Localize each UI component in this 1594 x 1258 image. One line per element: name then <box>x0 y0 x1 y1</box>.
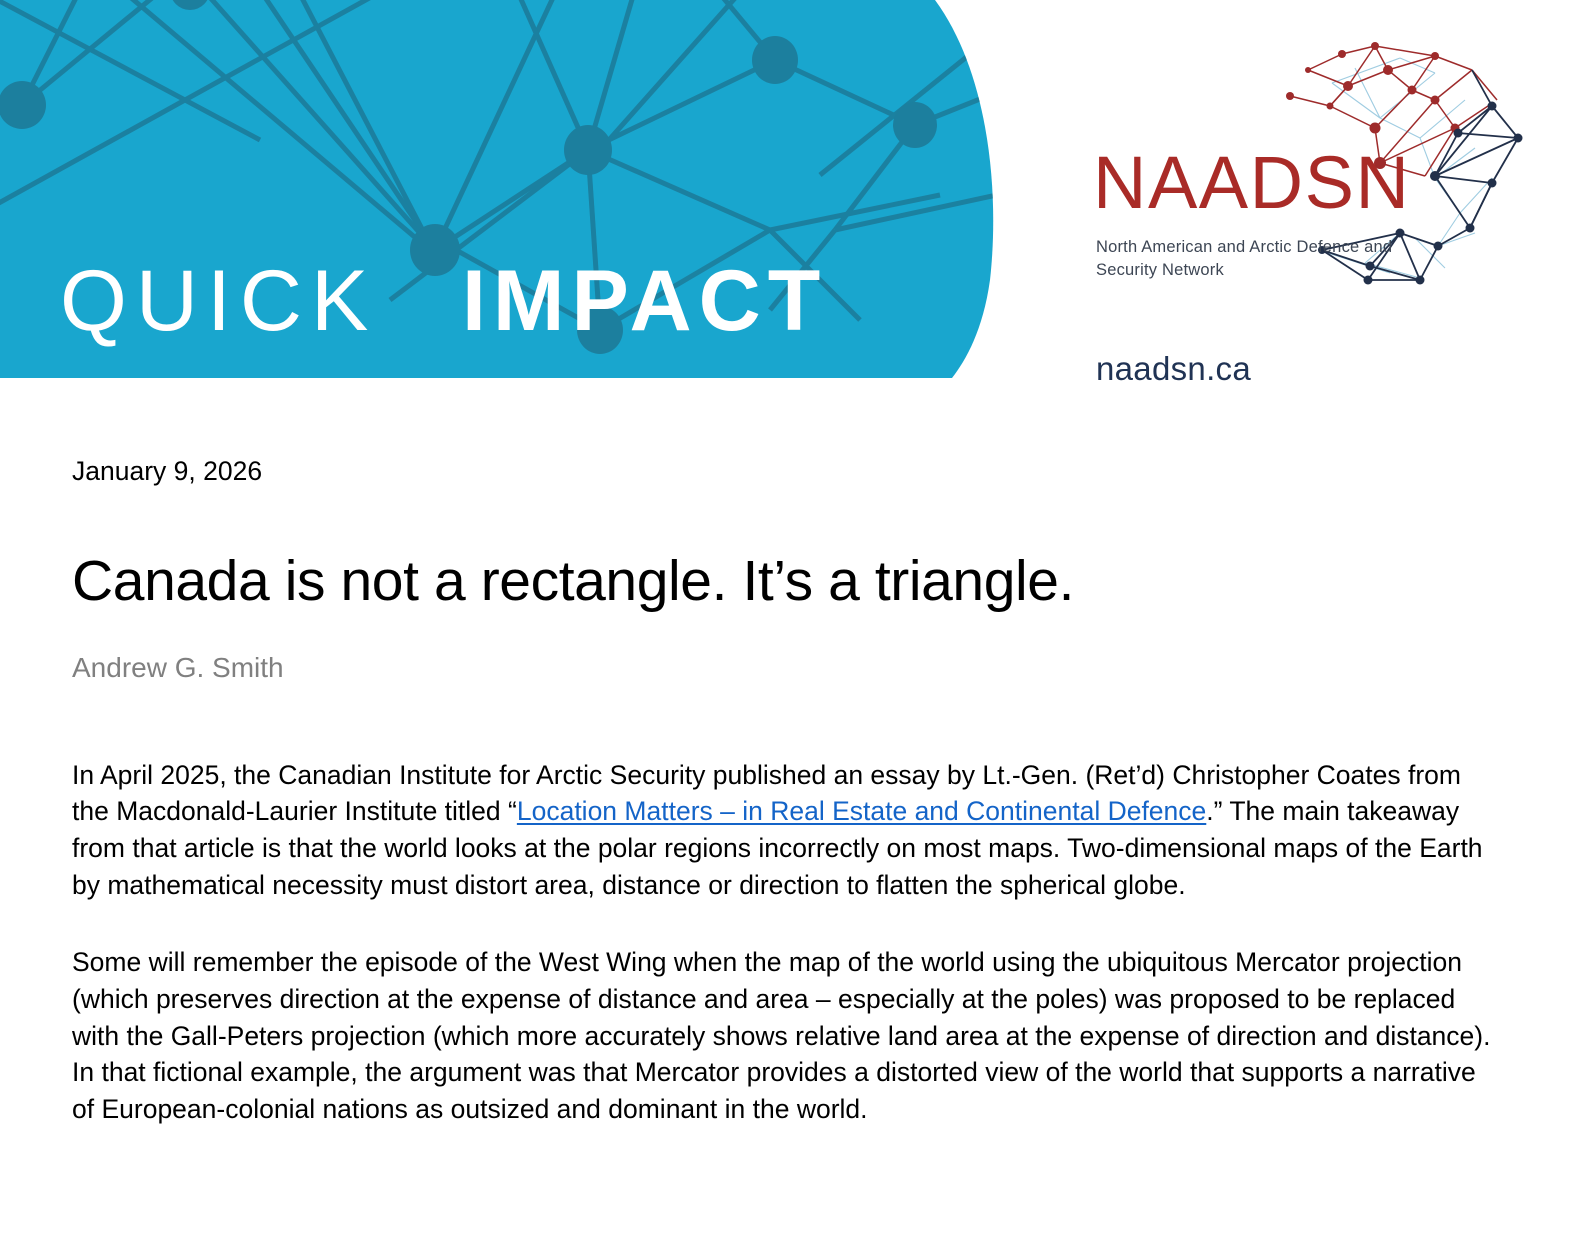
banner-title-impact: IMPACT <box>462 253 827 349</box>
banner-title-quick: QUICK <box>60 253 377 349</box>
body-paragraph-1: In April 2025, the Canadian Institute fo… <box>72 757 1504 904</box>
naadsn-tagline: North American and Arctic Defence and Se… <box>1096 236 1396 283</box>
naadsn-logo: NAADSN North American and Arctic Defence… <box>1085 28 1525 378</box>
quick-impact-banner: QUICK IMPACT <box>0 0 1010 380</box>
document-content: January 9, 2026 Canada is not a rectangl… <box>72 455 1504 1155</box>
location-matters-link[interactable]: Location Matters – in Real Estate and Co… <box>517 796 1206 826</box>
publication-date: January 9, 2026 <box>72 455 1504 488</box>
banner-graphic: QUICK IMPACT <box>0 0 1010 380</box>
naadsn-wordmark: NAADSN <box>1093 146 1410 220</box>
page-title: Canada is not a rectangle. It’s a triang… <box>72 550 1504 613</box>
author-byline: Andrew G. Smith <box>72 651 1504 685</box>
body-paragraph-2: Some will remember the episode of the We… <box>72 944 1504 1128</box>
naadsn-website-url: naadsn.ca <box>1096 350 1251 388</box>
